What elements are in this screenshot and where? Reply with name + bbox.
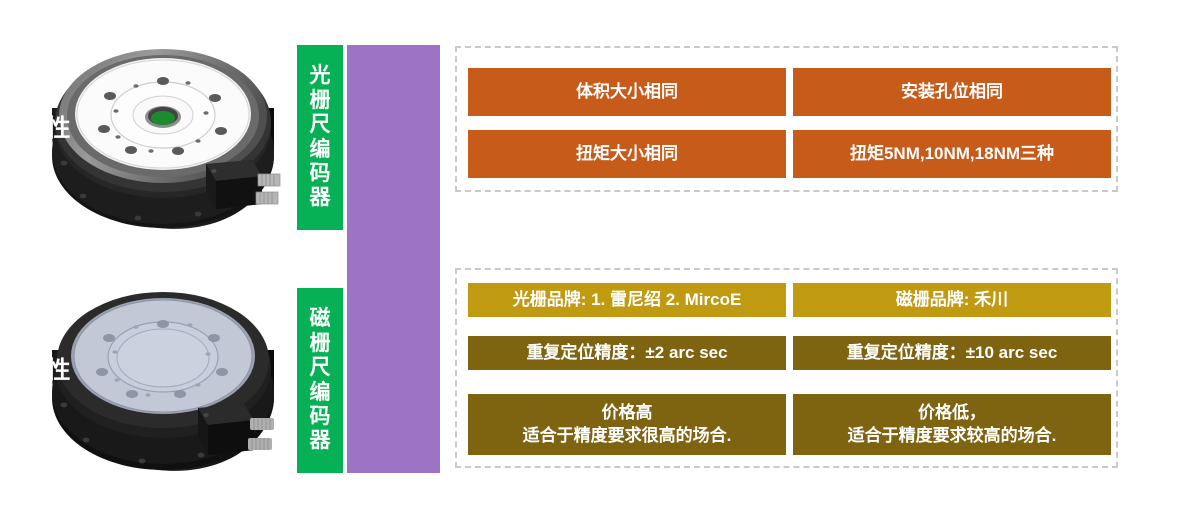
common-cell-r1-left: 体积大小相同	[468, 68, 786, 116]
category-label-magnetic-text: 磁栅尺编码器	[309, 307, 331, 453]
category-label-grating-text: 光栅尺编码器	[309, 64, 331, 210]
common-cell-r2-right: 扭矩5NM,10NM,18NM三种	[793, 130, 1111, 178]
section-title-column	[347, 45, 440, 473]
section-title-feature: 特性	[0, 350, 93, 385]
feature-cell-accuracy-right: 重复定位精度：±10 arc sec	[793, 336, 1111, 370]
category-label-magnetic: 磁栅尺编码器	[297, 288, 343, 473]
feature-cell-accuracy-left: 重复定位精度：±2 arc sec	[468, 336, 786, 370]
feature-price-right-line1: 价格低，	[848, 402, 1057, 424]
feature-price-left-line2: 适合于精度要求很高的场合.	[523, 425, 732, 447]
common-cell-r2-left: 扭矩大小相同	[468, 130, 786, 178]
section-title-common: 共性	[0, 108, 93, 143]
comparison-infographic: 光栅尺编码器 磁栅尺编码器 共性 特性 体积大小相同 安装孔位相同 扭矩大小相同…	[0, 0, 1181, 505]
common-cell-r1-right: 安装孔位相同	[793, 68, 1111, 116]
feature-cell-price-left: 价格高 适合于精度要求很高的场合.	[468, 394, 786, 455]
feature-cell-price-right: 价格低， 适合于精度要求较高的场合.	[793, 394, 1111, 455]
product-image-column	[0, 0, 290, 505]
feature-price-right-line2: 适合于精度要求较高的场合.	[848, 425, 1057, 447]
category-label-grating: 光栅尺编码器	[297, 45, 343, 230]
feature-cell-brand-right: 磁栅品牌: 禾川	[793, 283, 1111, 317]
feature-cell-brand-left: 光栅品牌: 1. 雷尼绍 2. MircoE	[468, 283, 786, 317]
feature-price-left-line1: 价格高	[523, 402, 732, 424]
